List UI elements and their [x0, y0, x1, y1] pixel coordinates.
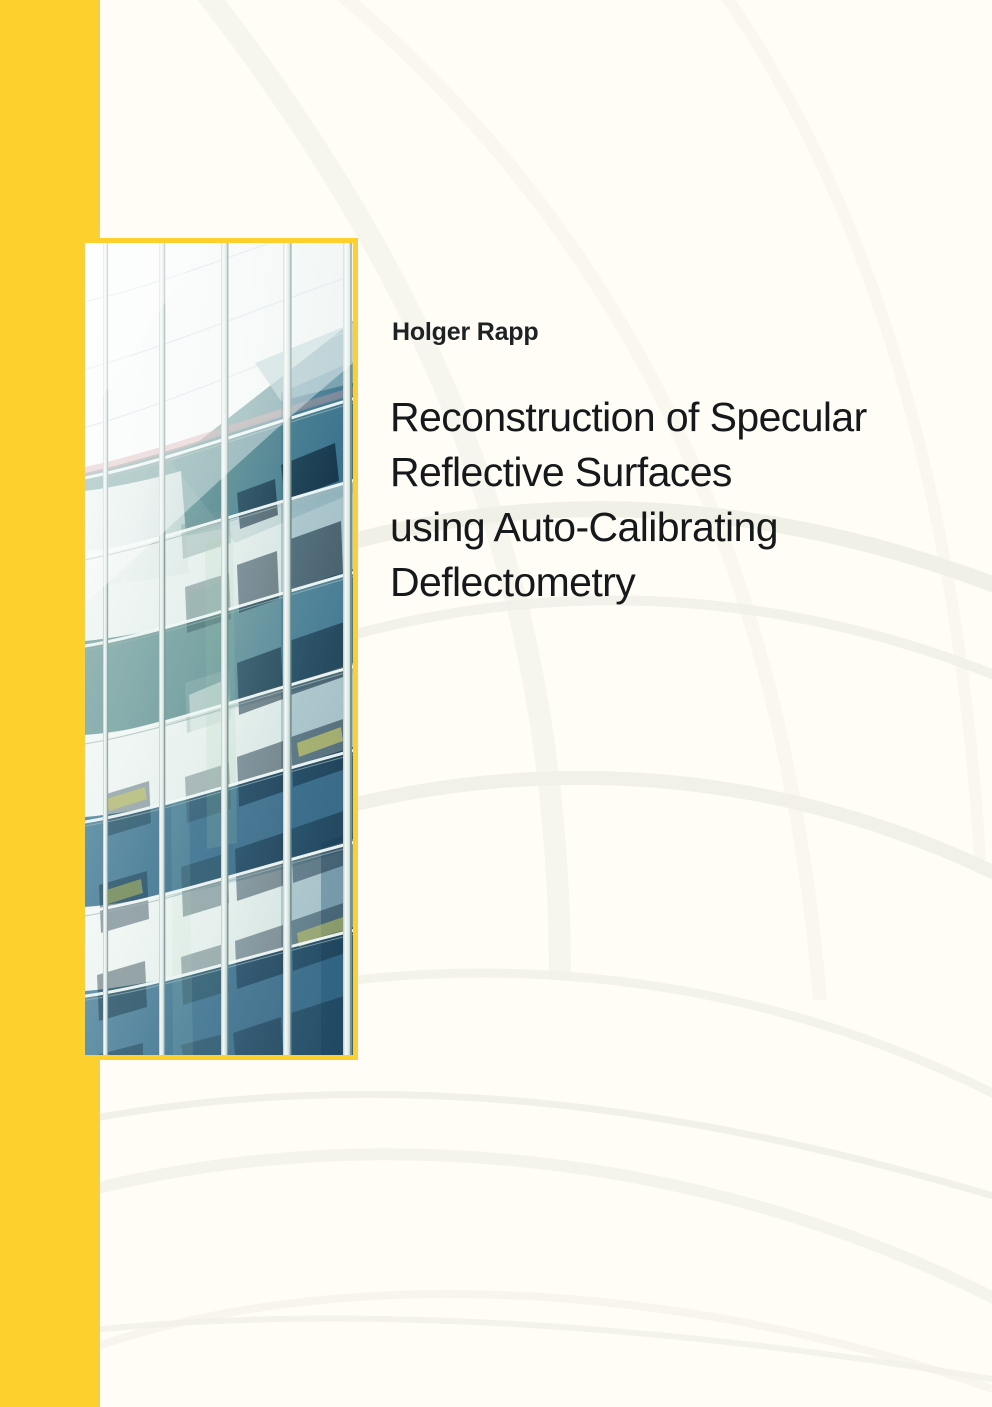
- title-line-4: Deflectometry: [390, 555, 970, 610]
- author-name: Holger Rapp: [392, 318, 538, 347]
- title-line-1: Reconstruction of Specular: [390, 390, 970, 445]
- title-line-2: Reflective Surfaces: [390, 445, 970, 500]
- cover-photo-frame: [80, 238, 358, 1060]
- title-line-3: using Auto-Calibrating: [390, 500, 970, 555]
- book-cover: Holger Rapp Reconstruction of Specular R…: [0, 0, 992, 1407]
- page-title: Reconstruction of Specular Reflective Su…: [390, 390, 970, 610]
- cover-photo-glass-facade: [85, 243, 353, 1055]
